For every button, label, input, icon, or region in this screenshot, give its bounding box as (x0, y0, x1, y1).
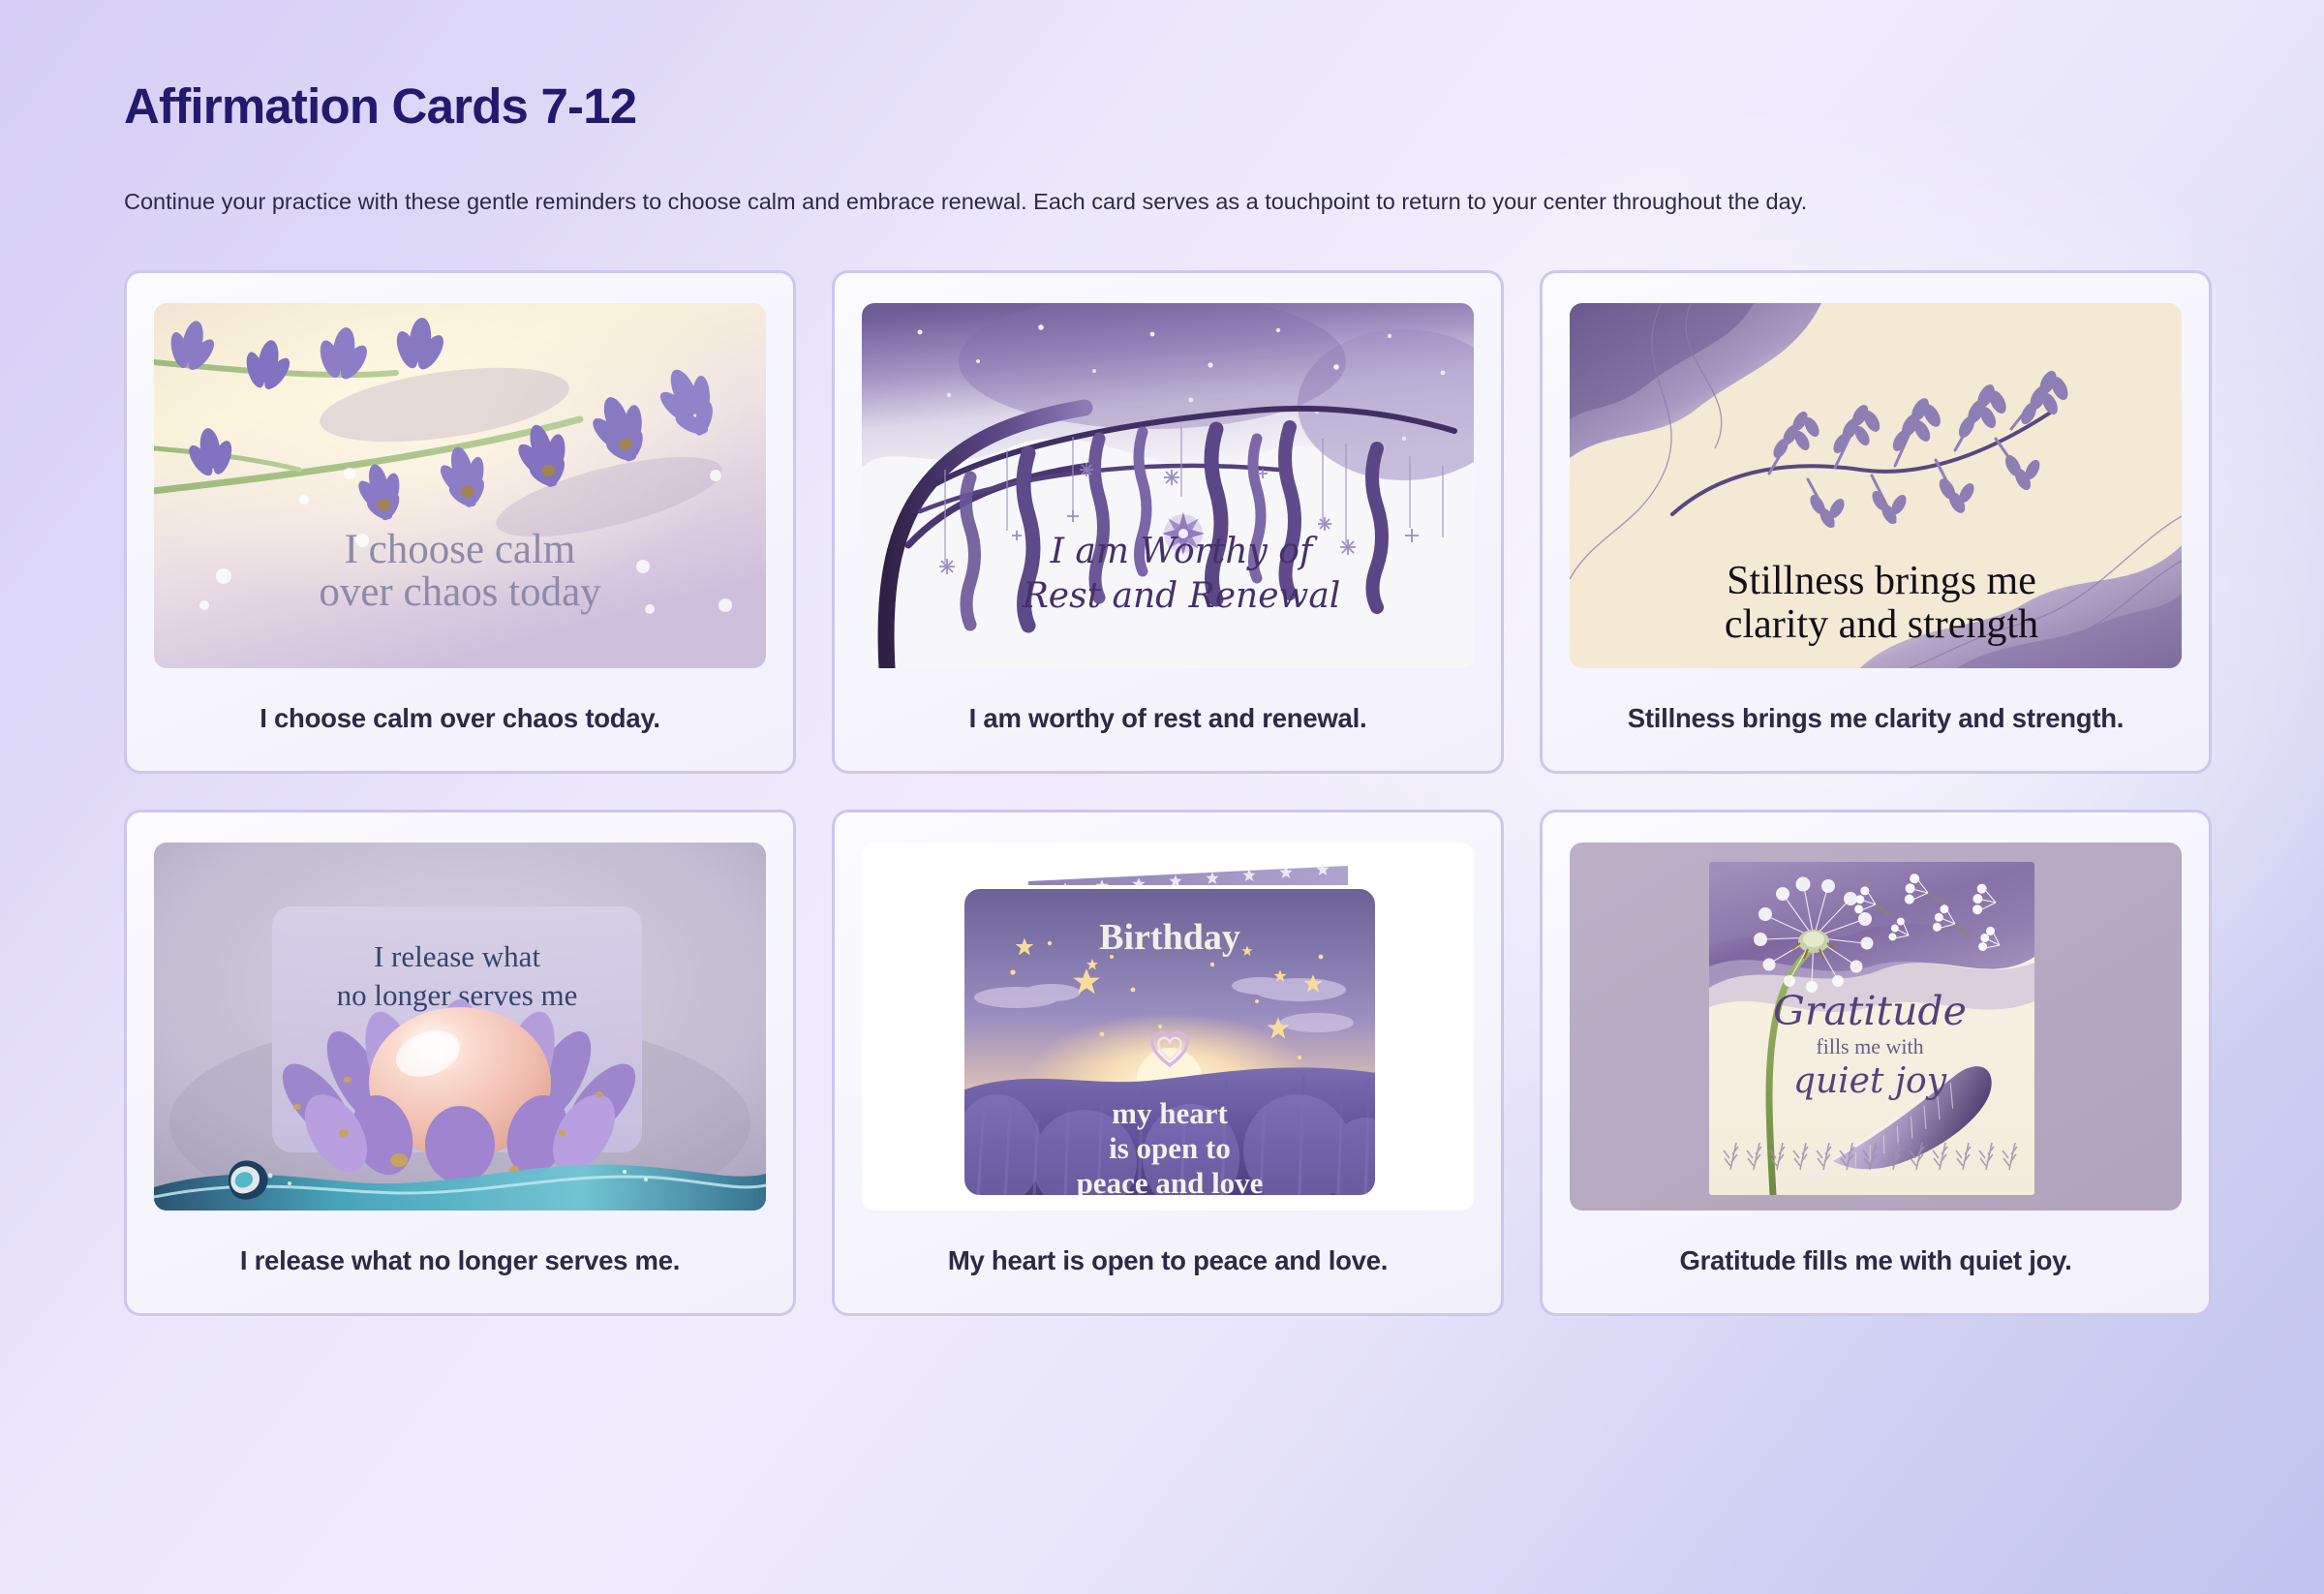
card-12-image: Gratitude fills me with quiet joy (1570, 843, 2182, 1211)
card-8-image: I am Worthy of Rest and Renewal (862, 303, 1474, 668)
svg-text:my heart: my heart (1112, 1096, 1228, 1130)
svg-text:Stillness brings me: Stillness brings me (1727, 559, 2036, 603)
page-root: Affirmation Cards 7-12 Continue your pra… (0, 0, 2324, 1594)
affirmation-card-8[interactable]: I am Worthy of Rest and Renewal I am wor… (832, 270, 1504, 774)
card-11-caption: My heart is open to peace and love. (931, 1211, 1405, 1313)
svg-text:Rest and Renewal: Rest and Renewal (1022, 576, 1341, 616)
svg-text:peace and love: peace and love (1077, 1166, 1264, 1200)
card-12-caption: Gratitude fills me with quiet joy. (1662, 1211, 2089, 1313)
svg-text:fills me with: fills me with (1816, 1034, 1923, 1058)
svg-text:I am Worthy of: I am Worthy of (1050, 532, 1318, 571)
svg-text:I release what: I release what (374, 939, 541, 973)
page-intro: Continue your practice with these gentle… (124, 183, 2133, 220)
card-8-caption: I am worthy of rest and renewal. (952, 668, 1385, 771)
svg-text:I choose calm: I choose calm (345, 527, 576, 572)
svg-text:Birthday: Birthday (1099, 917, 1240, 958)
card-9-caption: Stillness brings me clarity and strength… (1610, 668, 2141, 771)
affirmation-card-grid: I choose calm over chaos today I choose … (124, 270, 2179, 1316)
card-10-image: I release what no longer serves me (154, 843, 766, 1211)
card-11-image: Birthday my heart is open to peace and l… (862, 843, 1474, 1211)
card-7-caption: I choose calm over chaos today. (242, 668, 678, 771)
affirmation-card-11[interactable]: Birthday my heart is open to peace and l… (832, 810, 1504, 1316)
page-title: Affirmation Cards 7-12 (124, 79, 2324, 133)
card-10-caption: I release what no longer serves me. (223, 1211, 697, 1313)
svg-text:Gratitude: Gratitude (1773, 988, 1967, 1034)
affirmation-card-9[interactable]: Stillness brings me clarity and strength… (1540, 270, 2212, 774)
card-7-image: I choose calm over chaos today (154, 303, 766, 668)
card-9-image: Stillness brings me clarity and strength (1570, 303, 2182, 668)
svg-text:quiet joy: quiet joy (1793, 1061, 1947, 1101)
affirmation-card-12[interactable]: Gratitude fills me with quiet joy Gratit… (1540, 810, 2212, 1316)
affirmation-card-10[interactable]: I release what no longer serves me (124, 810, 796, 1316)
affirmation-card-7[interactable]: I choose calm over chaos today I choose … (124, 270, 796, 774)
svg-text:is open to: is open to (1109, 1131, 1231, 1165)
svg-text:over chaos today: over chaos today (319, 569, 601, 615)
svg-text:clarity and strength: clarity and strength (1725, 602, 2038, 647)
